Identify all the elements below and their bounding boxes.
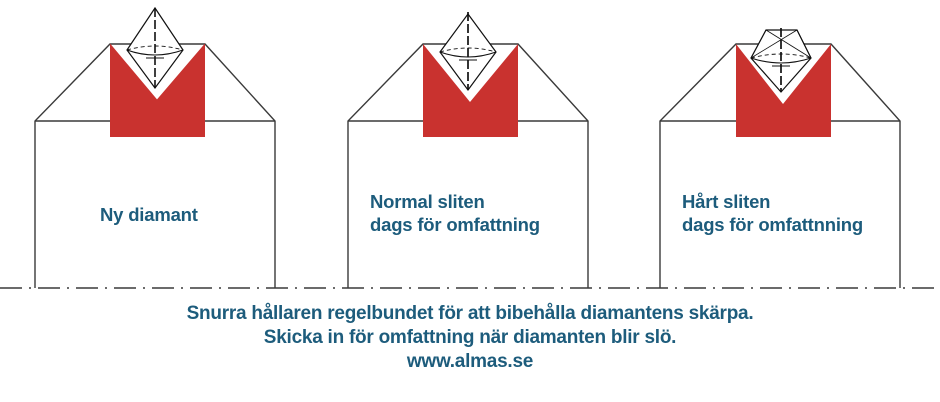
footer-website: www.almas.se: [0, 351, 940, 373]
panel-heavy-graphic: [660, 28, 900, 288]
illustration-canvas: Ny diamant Normal sliten dags för omfatt…: [0, 0, 940, 402]
footer-line-1: Snurra hållaren regelbundet för att bibe…: [0, 303, 940, 325]
footer-line-2: Skicka in för omfattning när diamanten b…: [0, 327, 940, 349]
panel-label-new: Ny diamant: [100, 203, 198, 226]
panel-normal-graphic: [348, 12, 588, 288]
panel-label-heavy: Hårt sliten dags för omfattnning: [682, 190, 863, 236]
panel-label-normal: Normal sliten dags för omfattning: [370, 190, 540, 236]
panel-new-graphic: [35, 8, 275, 288]
